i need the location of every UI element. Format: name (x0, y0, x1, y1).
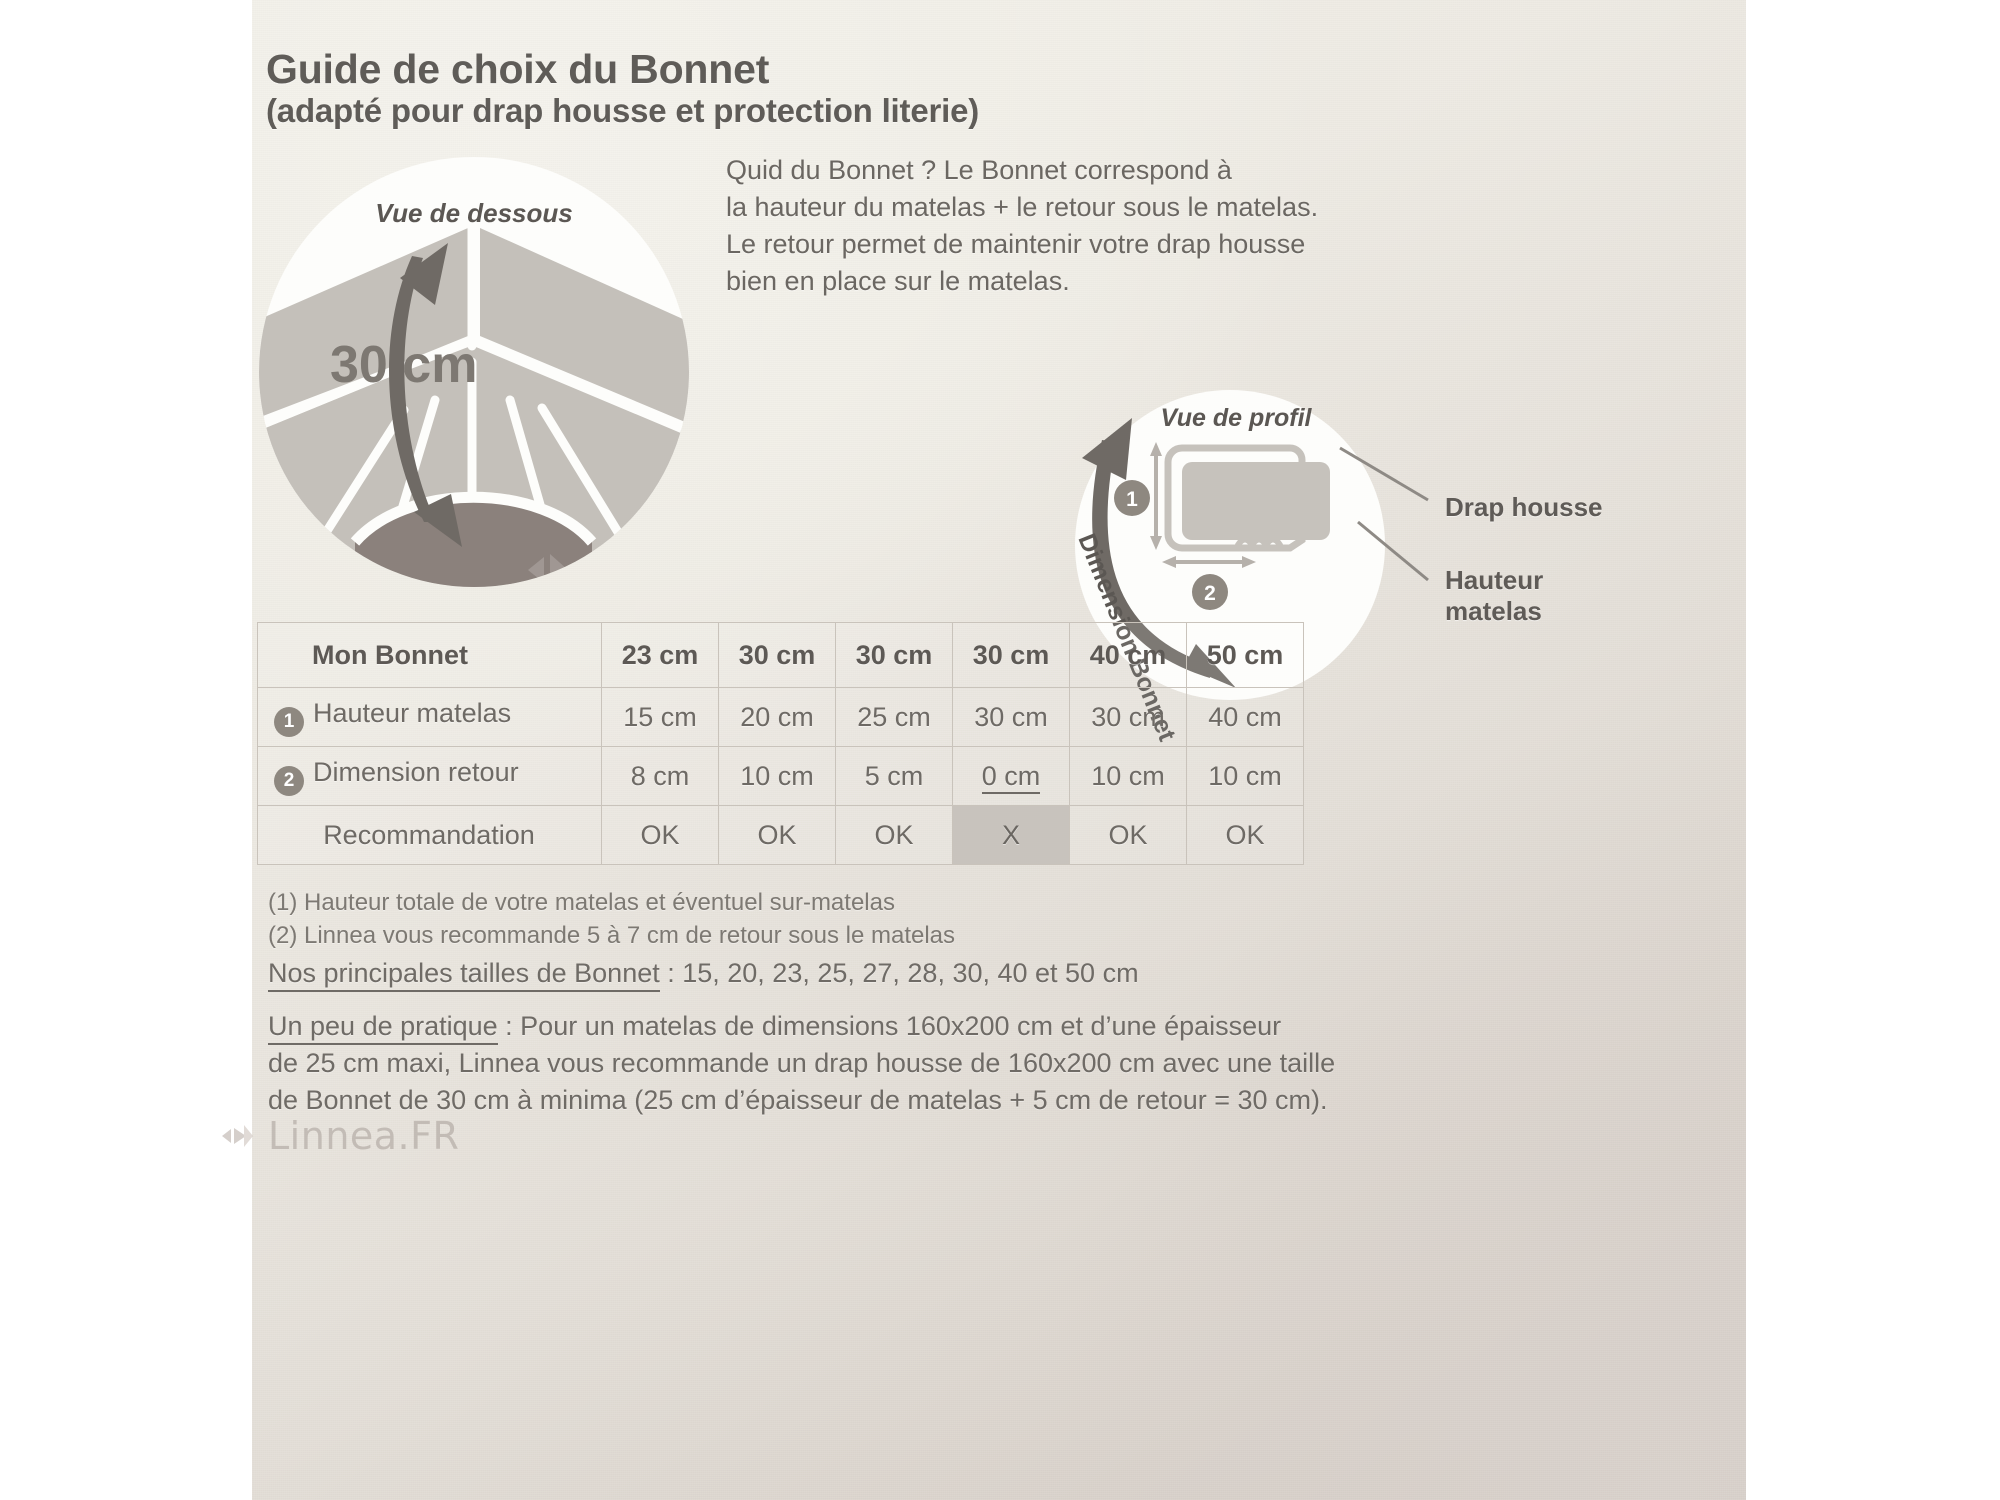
profile-view-caption: Vue de profil (1161, 404, 1313, 432)
cell-return-3-value: 0 cm (982, 761, 1041, 794)
label-hauteur-line2: matelas (1445, 596, 1543, 627)
linnea-logo-text: Linnea.FR (268, 1114, 459, 1158)
cell-reco-1: OK (719, 806, 836, 865)
cell-return-4: 10 cm (1070, 747, 1187, 806)
footnote-2: (2) Linnea vous recommande 5 à 7 cm de r… (268, 919, 1368, 952)
label-hauteur-line1: Hauteur (1445, 565, 1543, 596)
table-row-mattress-height: 1Hauteur matelas 15 cm 20 cm 25 cm 30 cm… (258, 688, 1304, 747)
mattress-block (1182, 462, 1330, 540)
practice-block: Un peu de pratique : Pour un matelas de … (268, 1008, 1328, 1119)
table-header-col-0: 23 cm (602, 623, 719, 688)
row-label-dimension-retour: 2Dimension retour (258, 747, 602, 806)
cell-return-2: 5 cm (836, 747, 953, 806)
bonnet-measure-label: 30 cm (330, 336, 477, 394)
footnote-1: (1) Hauteur totale de votre matelas et é… (268, 886, 1368, 919)
cell-reco-5: OK (1187, 806, 1304, 865)
practice-label: Un peu de pratique (268, 1011, 498, 1045)
badge-1-label: 1 (1126, 488, 1138, 511)
cell-reco-2: OK (836, 806, 953, 865)
bottom-view-diagram: Vue de dessous 30 cm (252, 150, 722, 620)
intro-line-4: bien en place sur le matelas. (726, 263, 1346, 300)
intro-paragraph: Quid du Bonnet ? Le Bonnet correspond à … (726, 152, 1346, 300)
table-header-col-5: 50 cm (1187, 623, 1304, 688)
table-header-row: Mon Bonnet 23 cm 30 cm 30 cm 30 cm 40 cm… (258, 623, 1304, 688)
linnea-logo-mark (222, 1123, 256, 1149)
table-header-col-4: 40 cm (1070, 623, 1187, 688)
bonnet-table: Mon Bonnet 23 cm 30 cm 30 cm 30 cm 40 cm… (257, 622, 1304, 865)
intro-line-3: Le retour permet de maintenir votre drap… (726, 226, 1346, 263)
cell-reco-3: X (953, 806, 1070, 865)
linnea-logo: Linnea.FR (222, 1114, 459, 1158)
sizes-value: : 15, 20, 23, 25, 27, 28, 30, 40 et 50 c… (660, 958, 1139, 988)
table-row-return-dimension: 2Dimension retour 8 cm 10 cm 5 cm 0 cm 1… (258, 747, 1304, 806)
practice-line-1: Un peu de pratique : Pour un matelas de … (268, 1008, 1328, 1045)
table-header-label: Mon Bonnet (258, 623, 602, 688)
cell-return-1: 10 cm (719, 747, 836, 806)
table-header-col-1: 30 cm (719, 623, 836, 688)
table-header-col-2: 30 cm (836, 623, 953, 688)
cell-return-0: 8 cm (602, 747, 719, 806)
row-label-hauteur-matelas: 1Hauteur matelas (258, 688, 602, 747)
intro-line-1: Quid du Bonnet ? Le Bonnet correspond à (726, 152, 1346, 189)
infographic-canvas: Guide de choix du Bonnet (adapté pour dr… (0, 0, 2000, 1500)
label-hauteur-matelas: Hauteur matelas (1445, 565, 1543, 627)
footnotes: (1) Hauteur totale de votre matelas et é… (268, 886, 1368, 952)
sizes-label: Nos principales tailles de Bonnet (268, 958, 660, 992)
practice-line-1-rest: : Pour un matelas de dimensions 160x200 … (498, 1011, 1281, 1041)
label-drap-housse: Drap housse (1445, 492, 1603, 523)
cell-height-1: 20 cm (719, 688, 836, 747)
bottom-view-caption: Vue de dessous (375, 198, 573, 228)
cell-reco-4: OK (1070, 806, 1187, 865)
cell-height-3: 30 cm (953, 688, 1070, 747)
cell-height-2: 25 cm (836, 688, 953, 747)
sizes-line: Nos principales tailles de Bonnet : 15, … (268, 955, 1139, 991)
cell-height-5: 40 cm (1187, 688, 1304, 747)
row-label-hauteur-text: Hauteur matelas (313, 698, 511, 728)
table-row-recommendation: Recommandation OK OK OK X OK OK (258, 806, 1304, 865)
badge-2-icon: 2 (274, 766, 304, 796)
cell-return-5: 10 cm (1187, 747, 1304, 806)
cell-height-4: 30 cm (1070, 688, 1187, 747)
intro-line-2: la hauteur du matelas + le retour sous l… (726, 189, 1346, 226)
practice-line-2: de 25 cm maxi, Linnea vous recommande un… (268, 1045, 1328, 1082)
row-label-recommandation: Recommandation (258, 806, 602, 865)
badge-1-icon: 1 (274, 707, 304, 737)
cell-reco-0: OK (602, 806, 719, 865)
page-title: Guide de choix du Bonnet (266, 46, 769, 93)
page-subtitle: (adapté pour drap housse et protection l… (266, 92, 979, 130)
cell-height-0: 15 cm (602, 688, 719, 747)
table-header-col-3: 30 cm (953, 623, 1070, 688)
cell-return-3: 0 cm (953, 747, 1070, 806)
row-label-retour-text: Dimension retour (313, 757, 519, 787)
badge-2-label: 2 (1204, 582, 1216, 605)
